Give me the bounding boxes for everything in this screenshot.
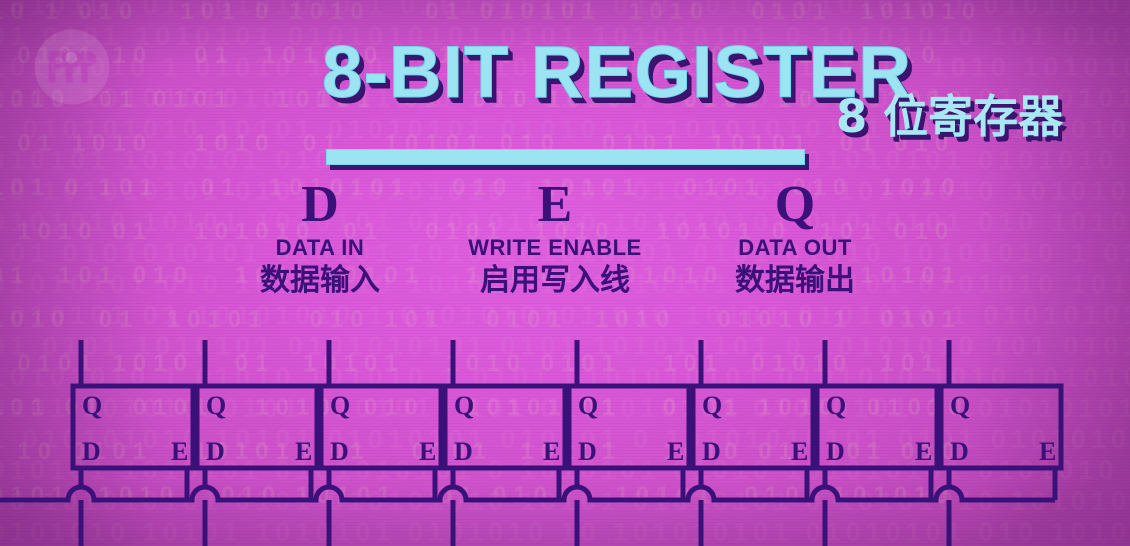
latch-pin-label-d: D bbox=[578, 437, 597, 466]
latch-cell[interactable]: QDE bbox=[693, 386, 813, 468]
latch-pin-label-q: Q bbox=[950, 391, 970, 420]
latch-cell[interactable]: QDE bbox=[817, 386, 937, 468]
latch-pin-label-d: D bbox=[826, 437, 845, 466]
latch-pin-label-d: D bbox=[330, 437, 349, 466]
latch-pin-label-d: D bbox=[950, 437, 969, 466]
latch-layer: QDEQDEQDEQDEQDEQDEQDEQDE bbox=[73, 386, 1061, 468]
register-diagram-stage: 1010101 01 10101010 1 0101010101 010 101… bbox=[0, 0, 1130, 546]
latch-cell[interactable]: QDE bbox=[569, 386, 689, 468]
wire-layer bbox=[0, 340, 1055, 546]
latch-cell[interactable]: QDE bbox=[941, 386, 1061, 468]
latch-pin-label-e: E bbox=[171, 437, 188, 466]
latch-pin-label-d: D bbox=[206, 437, 225, 466]
latch-pin-label-d: D bbox=[454, 437, 473, 466]
latch-pin-label-q: Q bbox=[702, 391, 722, 420]
latch-pin-label-e: E bbox=[667, 437, 684, 466]
latch-cell[interactable]: QDE bbox=[445, 386, 565, 468]
latch-cell[interactable]: QDE bbox=[73, 386, 193, 468]
latch-pin-label-q: Q bbox=[454, 391, 474, 420]
latch-pin-label-q: Q bbox=[578, 391, 598, 420]
latch-pin-label-q: Q bbox=[206, 391, 226, 420]
latch-pin-label-e: E bbox=[543, 437, 560, 466]
latch-pin-label-q: Q bbox=[826, 391, 846, 420]
latch-pin-label-e: E bbox=[915, 437, 932, 466]
latch-pin-label-q: Q bbox=[330, 391, 350, 420]
latch-pin-label-q: Q bbox=[82, 391, 102, 420]
latch-pin-label-e: E bbox=[295, 437, 312, 466]
latch-chain-schematic: QDEQDEQDEQDEQDEQDEQDEQDE bbox=[0, 0, 1130, 546]
latch-cell[interactable]: QDE bbox=[321, 386, 441, 468]
latch-pin-label-e: E bbox=[1039, 437, 1056, 466]
latch-pin-label-e: E bbox=[791, 437, 808, 466]
latch-cell[interactable]: QDE bbox=[197, 386, 317, 468]
enable-bus-wire bbox=[0, 487, 1055, 500]
latch-pin-label-e: E bbox=[419, 437, 436, 466]
latch-pin-label-d: D bbox=[702, 437, 721, 466]
latch-pin-label-d: D bbox=[82, 437, 101, 466]
